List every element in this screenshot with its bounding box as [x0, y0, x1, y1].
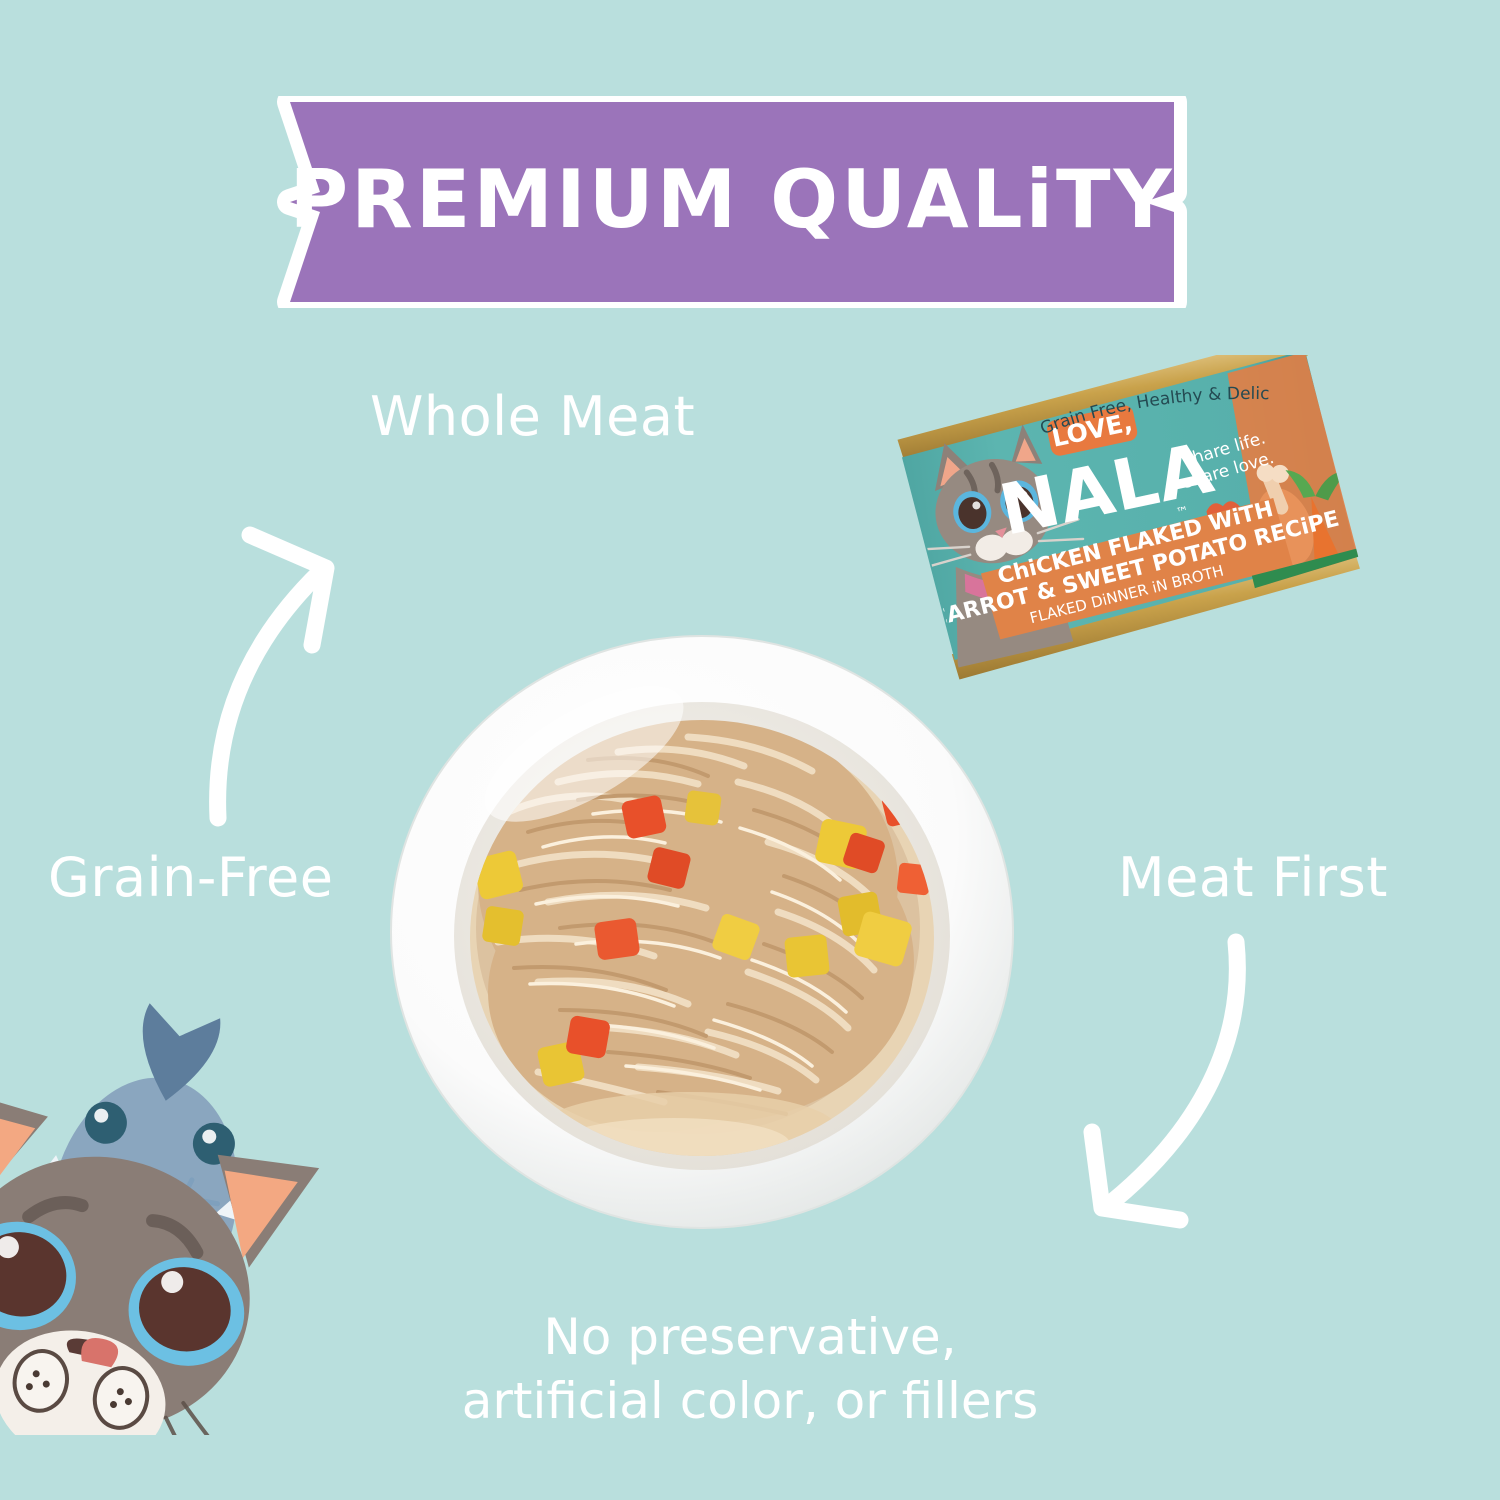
banner-title: PREMIUM QUALiTY: [272, 96, 1192, 308]
curved-arrow-down-icon: [1040, 920, 1290, 1240]
nala-mascot-illustration: [0, 985, 352, 1435]
product-feature-graphic: PREMIUM QUALiTY Whole Meat Grain-Free Me…: [0, 0, 1500, 1500]
premium-quality-banner: PREMIUM QUALiTY: [272, 96, 1192, 308]
cat-food-can: LOVE, NALA ™ Grain Free, Healthy & Delic…: [855, 355, 1365, 690]
curved-arrow-up-icon: [170, 480, 420, 830]
feature-label-whole-meat: Whole Meat: [370, 385, 695, 448]
feature-label-grain-free: Grain-Free: [48, 846, 333, 909]
bowl-of-cat-food: [388, 632, 1016, 1232]
feature-label-meat-first: Meat First: [1118, 846, 1388, 909]
